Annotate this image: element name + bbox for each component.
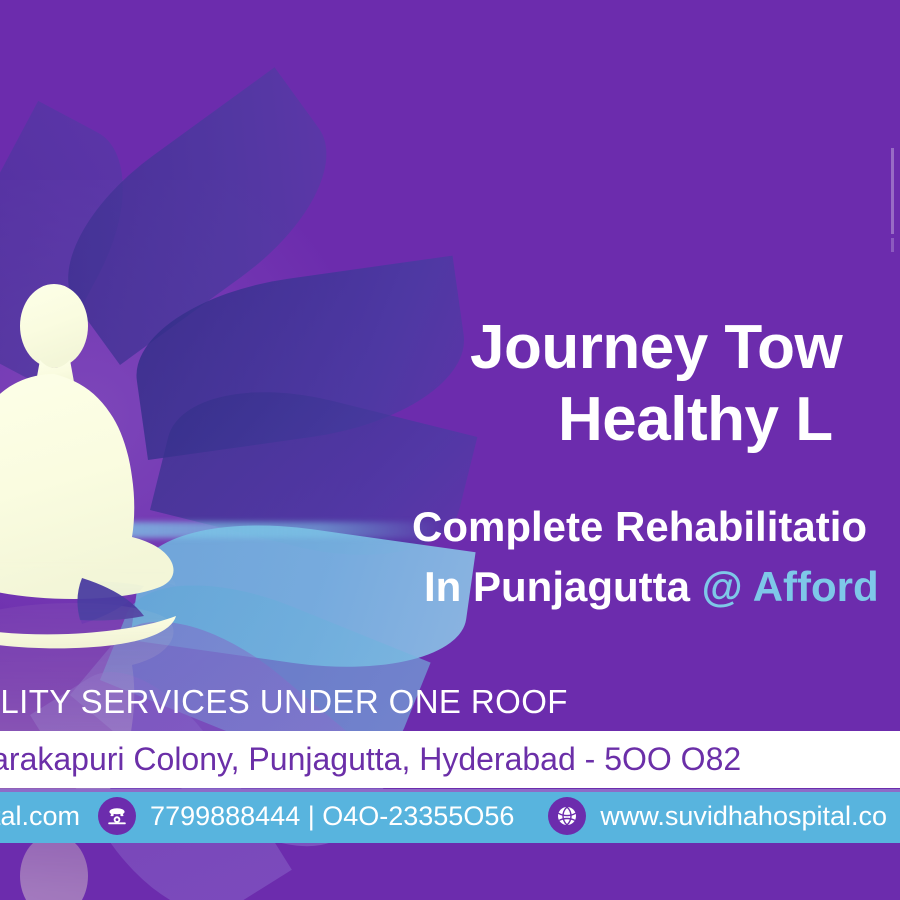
subheadline-line-1: Complete Rehabilitatio (412, 497, 900, 557)
edge-artifact-upper (891, 148, 894, 234)
globe-icon (548, 797, 586, 835)
address-text: warakapuri Colony, Punjagutta, Hyderabad… (0, 741, 741, 778)
headline-line-2: Healthy L (558, 384, 900, 456)
contact-website[interactable]: www.suvidhahospital.co (600, 801, 887, 832)
headline: Journey Tow Healthy L (470, 312, 900, 456)
contact-email[interactable]: pital.com (0, 801, 80, 832)
edge-artifact-lower (891, 238, 894, 252)
tagline: ALITY SERVICES UNDER ONE ROOF (0, 683, 568, 721)
telephone-icon (98, 797, 136, 835)
subheadline-line-2: In Punjagutta @ Afford (424, 557, 900, 617)
headline-line-1: Journey Tow (470, 312, 900, 384)
yoga-figure-group (0, 278, 242, 678)
contact-bar: pital.com 7799888444 | O4O-23355O56 www.… (0, 789, 900, 843)
subheadline-affordable-accent: @ Afford (702, 563, 879, 610)
subheadline-location: In Punjagutta (424, 563, 702, 610)
subheadline: Complete Rehabilitatio In Punjagutta @ A… (412, 497, 900, 616)
contact-phone[interactable]: 7799888444 | O4O-23355O56 (150, 801, 514, 832)
hospital-promo-banner: Journey Tow Healthy L Complete Rehabilit… (0, 0, 900, 900)
address-bar: warakapuri Colony, Punjagutta, Hyderabad… (0, 731, 900, 788)
